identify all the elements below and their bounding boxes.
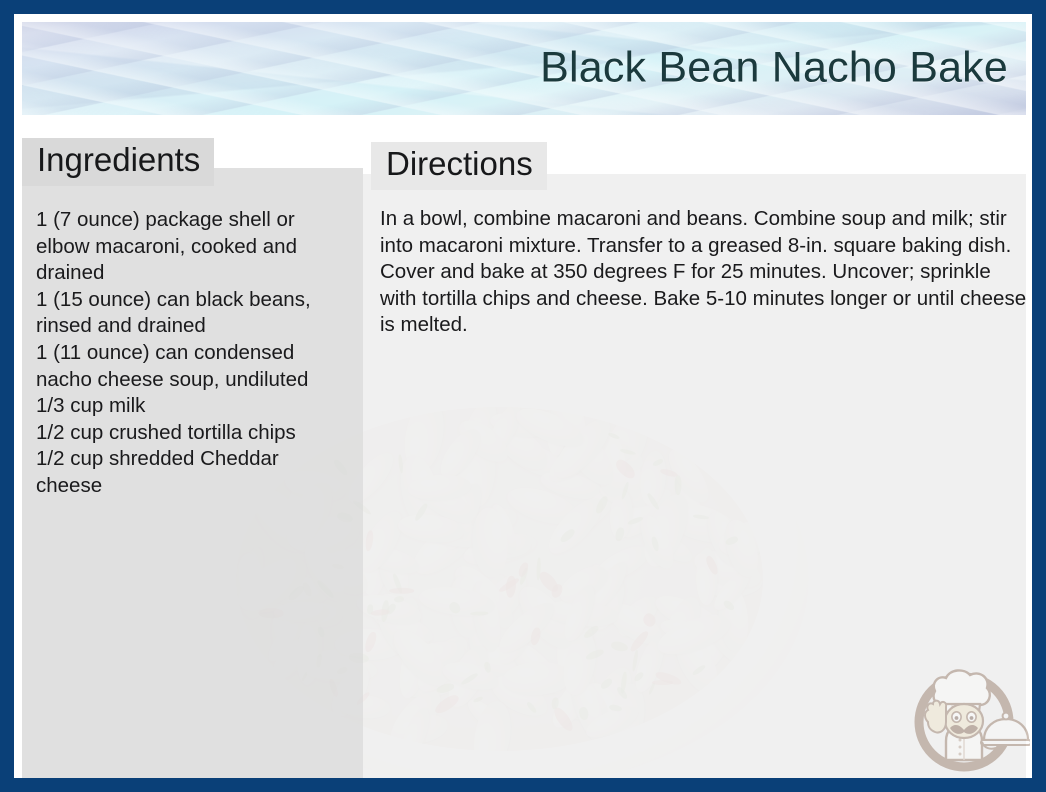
frame-border-top [0,0,1046,14]
recipe-card: Black Bean Nacho Bake Ingredients 1 (7 o… [0,0,1046,792]
card-page: Black Bean Nacho Bake Ingredients 1 (7 o… [14,14,1032,778]
ingredients-list: 1 (7 ounce) package shell or elbow macar… [36,207,348,500]
serving-dome-icon [981,713,1030,749]
directions-text: In a bowl, combine macaroni and beans. C… [380,206,1030,339]
waving-hand-icon [925,701,946,733]
chef-face-icon [945,704,983,738]
frame-border-left [0,0,14,792]
chef-logo [898,648,1030,774]
frame-border-right [1032,0,1046,792]
frame-border-bottom [0,778,1046,792]
page-title: Black Bean Nacho Bake [540,45,1008,90]
tab-directions[interactable]: Directions [371,142,547,190]
tab-ingredients[interactable]: Ingredients [22,138,214,186]
header-banner: Black Bean Nacho Bake [22,22,1026,115]
